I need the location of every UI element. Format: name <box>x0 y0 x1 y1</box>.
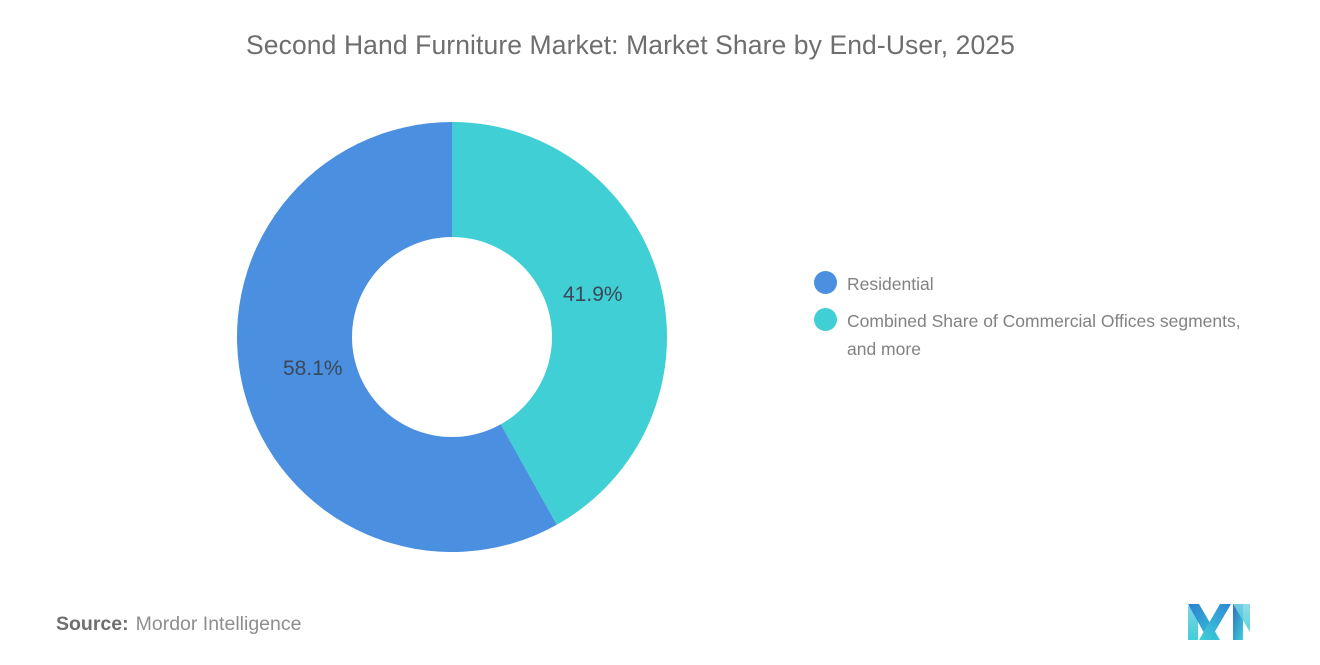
pie-slice-label-residential: 58.1% <box>283 357 343 381</box>
legend-item-label: Residential <box>847 270 934 298</box>
chart-legend: Residential Combined Share of Commercial… <box>814 270 1284 372</box>
source-label: Source: <box>56 613 129 635</box>
page-title: Second Hand Furniture Market: Market Sha… <box>246 30 1015 61</box>
legend-item-commercial[interactable]: Combined Share of Commercial Offices seg… <box>814 307 1284 363</box>
donut-chart: 58.1% 41.9% <box>237 122 667 552</box>
legend-swatch-icon <box>814 308 837 331</box>
source-value: Mordor Intelligence <box>136 613 302 635</box>
pie-slice-label-commercial: 41.9% <box>563 283 623 307</box>
legend-item-residential[interactable]: Residential <box>814 270 1284 298</box>
source-attribution: Source:Mordor Intelligence <box>56 613 301 636</box>
donut-chart-svg <box>237 122 667 552</box>
legend-item-label: Combined Share of Commercial Offices seg… <box>847 307 1257 363</box>
mordor-intelligence-logo-icon <box>1186 598 1252 640</box>
legend-swatch-icon <box>814 271 837 294</box>
donut-hole <box>352 237 552 437</box>
